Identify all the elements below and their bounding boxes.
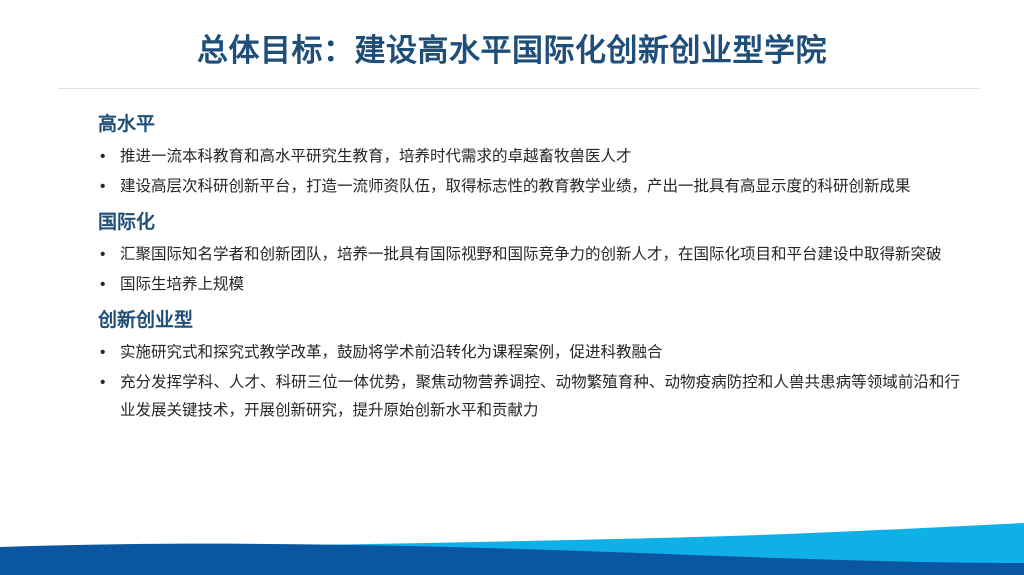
list-item: • 充分发挥学科、人才、科研三位一体优势，聚焦动物营养调控、动物繁殖育种、动物疫… <box>98 369 960 425</box>
list-item-text: 国际生培养上规模 <box>120 276 244 293</box>
list-item: • 建设高层次科研创新平台，打造一流师资队伍，取得标志性的教育教学业绩，产出一批… <box>98 173 960 201</box>
section-heading: 高水平 <box>98 112 960 138</box>
section-heading: 创新创业型 <box>98 308 960 334</box>
section-heading: 国际化 <box>98 210 960 236</box>
bullet-dot-icon: • <box>100 143 105 171</box>
list-item: • 国际生培养上规模 <box>98 271 960 299</box>
section-innovation-entrepreneurship: 创新创业型 • 实施研究式和探究式教学改革，鼓励将学术前沿转化为课程案例，促进科… <box>98 308 960 425</box>
bullet-dot-icon: • <box>100 241 105 269</box>
bullet-dot-icon: • <box>100 271 105 299</box>
slide-body: 高水平 • 推进一流本科教育和高水平研究生教育，培养时代需求的卓越畜牧兽医人才 … <box>98 112 960 427</box>
wave-graphic <box>0 505 1024 575</box>
list-item-text: 推进一流本科教育和高水平研究生教育，培养时代需求的卓越畜牧兽医人才 <box>120 148 632 165</box>
bullet-list: • 汇聚国际知名学者和创新团队，培养一批具有国际视野和国际竞争力的创新人才，在国… <box>98 241 960 299</box>
page-title: 总体目标：建设高水平国际化创新创业型学院 <box>0 30 1024 72</box>
list-item: • 汇聚国际知名学者和创新团队，培养一批具有国际视野和国际竞争力的创新人才，在国… <box>98 241 960 269</box>
section-internationalization: 国际化 • 汇聚国际知名学者和创新团队，培养一批具有国际视野和国际竞争力的创新人… <box>98 210 960 299</box>
slide-title-area: 总体目标：建设高水平国际化创新创业型学院 <box>0 30 1024 72</box>
title-divider <box>58 88 980 89</box>
bullet-list: • 推进一流本科教育和高水平研究生教育，培养时代需求的卓越畜牧兽医人才 • 建设… <box>98 143 960 201</box>
list-item-text: 建设高层次科研创新平台，打造一流师资队伍，取得标志性的教育教学业绩，产出一批具有… <box>120 178 911 195</box>
presentation-slide: 总体目标：建设高水平国际化创新创业型学院 高水平 • 推进一流本科教育和高水平研… <box>0 0 1024 575</box>
list-item: • 实施研究式和探究式教学改革，鼓励将学术前沿转化为课程案例，促进科教融合 <box>98 339 960 367</box>
section-high-level: 高水平 • 推进一流本科教育和高水平研究生教育，培养时代需求的卓越畜牧兽医人才 … <box>98 112 960 201</box>
bullet-list: • 实施研究式和探究式教学改革，鼓励将学术前沿转化为课程案例，促进科教融合 • … <box>98 339 960 425</box>
list-item-text: 充分发挥学科、人才、科研三位一体优势，聚焦动物营养调控、动物繁殖育种、动物疫病防… <box>120 374 960 419</box>
list-item-text: 汇聚国际知名学者和创新团队，培养一批具有国际视野和国际竞争力的创新人才，在国际化… <box>120 246 942 263</box>
bullet-dot-icon: • <box>100 369 105 397</box>
list-item-text: 实施研究式和探究式教学改革，鼓励将学术前沿转化为课程案例，促进科教融合 <box>120 344 663 361</box>
bullet-dot-icon: • <box>100 173 105 201</box>
bottom-wave-decoration <box>0 505 1024 575</box>
list-item: • 推进一流本科教育和高水平研究生教育，培养时代需求的卓越畜牧兽医人才 <box>98 143 960 171</box>
bullet-dot-icon: • <box>100 339 105 367</box>
